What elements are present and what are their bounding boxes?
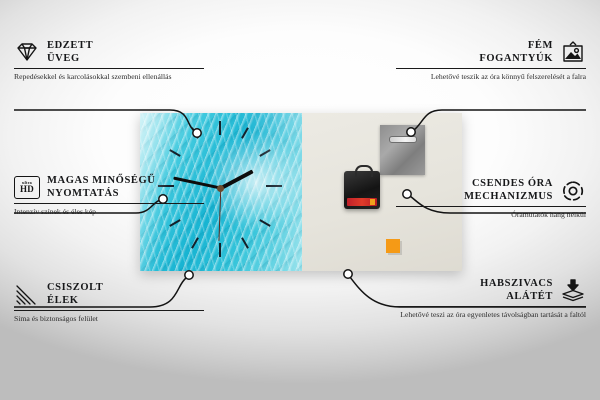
feature-header: CSISZOLTÉLEK [14, 282, 204, 307]
feature-description: Intenzív színek és éles kép [14, 207, 204, 217]
gear-icon [560, 179, 586, 203]
hanger-slot [389, 136, 417, 143]
feature-header: HABSZIVACSALÁTÉT [396, 278, 586, 303]
feature-description: Sima és biztonságos felület [14, 314, 204, 324]
clock-tick [259, 219, 270, 227]
feature-foam-backing: HABSZIVACSALÁTÉT Lehetővé teszi az óra e… [396, 278, 586, 320]
foam-pad-part [386, 239, 400, 253]
ultra-hd-main-label: HD [20, 185, 34, 194]
feature-metal-handles: FÉMFOGANTYÚK Lehetővé teszik az óra könn… [396, 40, 586, 82]
clock-tick [266, 185, 282, 187]
clock-tick [219, 121, 221, 135]
feature-high-quality-print: ultra HD MAGAS MINŐSÉGŰNYOMTATÁS Intenzí… [14, 175, 204, 217]
feature-divider [14, 310, 204, 311]
beveled-edge-icon [14, 283, 40, 307]
feature-header: FÉMFOGANTYÚK [396, 40, 586, 65]
mechanism-loop [355, 165, 373, 177]
clock-tick [219, 243, 221, 257]
feature-header: CSENDES ÓRAMECHANIZMUS [396, 178, 586, 203]
feature-title: HABSZIVACSALÁTÉT [480, 278, 553, 303]
feature-divider [396, 68, 586, 69]
feature-header: ultra HD MAGAS MINŐSÉGŰNYOMTATÁS [14, 175, 204, 200]
clock-tick [169, 149, 180, 157]
clock-tick [191, 127, 199, 138]
feature-silent-mechanism: CSENDES ÓRAMECHANIZMUS Óramutatók hang n… [396, 178, 586, 220]
feature-description: Óramutatók hang nélkül [396, 210, 586, 220]
feature-description: Lehetővé teszi az óra egyenletes távolsá… [396, 310, 586, 320]
clock-hour-hand [219, 170, 252, 190]
feature-title: CSENDES ÓRAMECHANIZMUS [464, 178, 553, 203]
feature-header: EDZETTÜVEG [14, 40, 204, 65]
feature-description: Lehetővé teszik az óra könnyű felszerelé… [396, 72, 586, 82]
clock-tick [191, 237, 199, 248]
feature-polished-edges: CSISZOLTÉLEK Sima és biztonságos felület [14, 282, 204, 324]
connector-endpoint [185, 271, 193, 279]
clock-tick [241, 237, 249, 248]
feature-divider [14, 68, 204, 69]
clock-mechanism-part [344, 171, 380, 209]
battery-part [347, 198, 377, 206]
feature-divider [396, 306, 586, 307]
feature-title: EDZETTÜVEG [47, 40, 93, 65]
clock-tick [259, 149, 270, 157]
feature-divider [396, 206, 586, 207]
clock-second-hand [218, 188, 221, 241]
metal-hanger-part [380, 125, 425, 175]
feature-title: CSISZOLTÉLEK [47, 282, 103, 307]
feature-tempered-glass: EDZETTÜVEG Repedésekkel és karcolásokkal… [14, 40, 204, 82]
feature-description: Repedésekkel és karcolásokkal szembeni e… [14, 72, 204, 82]
ultra-hd-icon: ultra HD [14, 176, 40, 199]
feature-title: FÉMFOGANTYÚK [479, 40, 553, 65]
foam-layers-icon [560, 279, 586, 303]
infographic-canvas: EDZETTÜVEG Repedésekkel és karcolásokkal… [0, 0, 600, 400]
diamond-icon [14, 41, 40, 65]
clock-center-pin [217, 185, 224, 192]
connector-endpoint [344, 270, 352, 278]
clock-tick [169, 219, 180, 227]
picture-hanger-icon [560, 41, 586, 65]
feature-divider [14, 203, 204, 204]
clock-tick [241, 127, 249, 138]
feature-title: MAGAS MINŐSÉGŰNYOMTATÁS [47, 175, 155, 200]
